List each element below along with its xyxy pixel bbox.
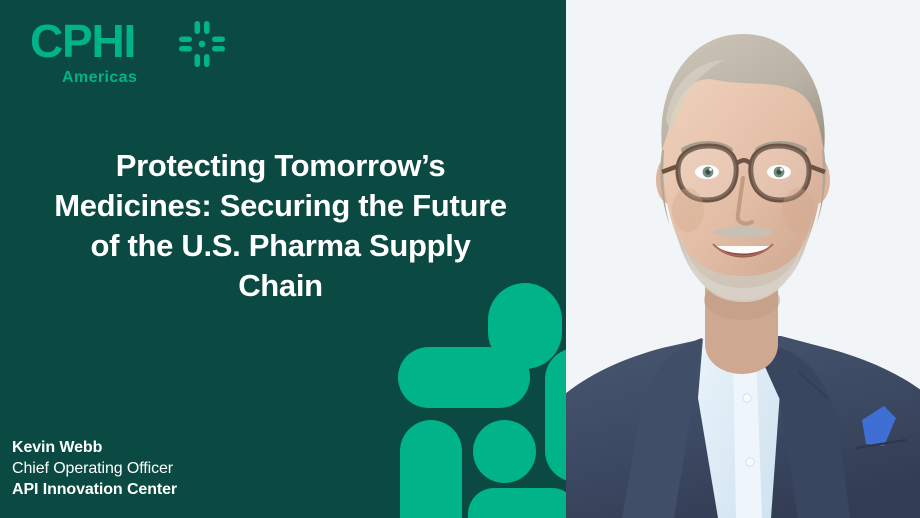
cphi-americas-logo[interactable]: CPHI Americas xyxy=(30,18,280,98)
capsule-circle-mid xyxy=(473,420,536,483)
left-content-panel: CPHI Americas xyxy=(0,0,566,518)
logo-wordmark: CPHI xyxy=(30,18,135,64)
capsule-right-tall xyxy=(545,348,566,482)
speaker-organization: API Innovation Center xyxy=(12,479,177,500)
title-line-1: Protecting Tomorrow’s xyxy=(28,146,533,186)
capsule-left-tall xyxy=(400,420,462,518)
title-line-2: Medicines: Securing the Future xyxy=(28,186,533,226)
title-line-4: Chain xyxy=(28,266,533,306)
logo-subtitle: Americas xyxy=(62,70,137,86)
speaker-portrait-photo xyxy=(566,0,920,518)
portrait-panel xyxy=(566,0,920,518)
speaker-role: Chief Operating Officer xyxy=(12,458,177,479)
capsule-bottom-wide xyxy=(468,488,566,518)
session-title-card: CPHI Americas xyxy=(0,0,920,518)
title-line-3: of the U.S. Pharma Supply xyxy=(28,226,533,266)
session-title: Protecting Tomorrow’s Medicines: Securin… xyxy=(28,146,533,306)
cphi-starburst-mark xyxy=(178,20,226,68)
speaker-name: Kevin Webb xyxy=(12,437,177,458)
speaker-credits: Kevin Webb Chief Operating Officer API I… xyxy=(12,437,177,500)
capsule-wide-horizontal xyxy=(398,347,530,408)
